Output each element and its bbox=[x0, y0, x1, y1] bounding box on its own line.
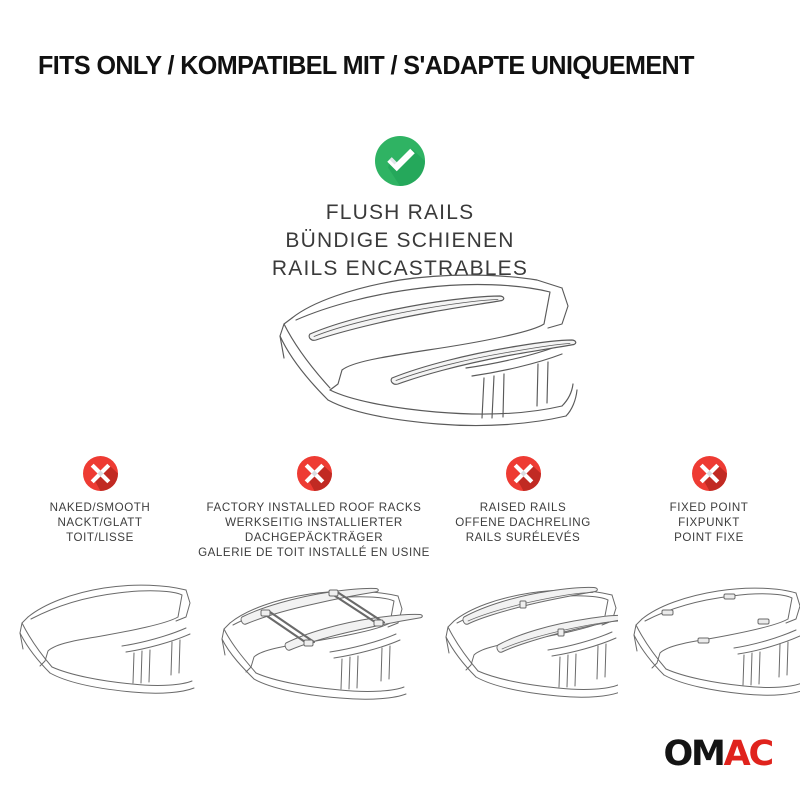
label-en: NAKED/SMOOTH bbox=[50, 500, 151, 515]
fitment-compatibility-page: FITS ONLY / KOMPATIBEL MIT / S'ADAPTE UN… bbox=[0, 0, 800, 800]
incompatible-labels-factory-roof-racks: FACTORY INSTALLED ROOF RACKS WERKSEITIG … bbox=[198, 500, 430, 560]
compatible-label-de: BÜNDIGE SCHIENEN bbox=[272, 227, 528, 255]
x-circle-icon bbox=[83, 456, 118, 491]
omac-logo: OMAC bbox=[663, 737, 772, 772]
incompatible-labels-raised-rails: RAISED RAILS OFFENE DACHRELING RAILS SUR… bbox=[455, 500, 591, 545]
incompatible-labels-naked-smooth: NAKED/SMOOTH NACKT/GLATT TOIT/LISSE bbox=[50, 500, 151, 545]
incompatible-item-raised-rails: RAISED RAILS OFFENE DACHRELING RAILS SUR… bbox=[428, 452, 618, 702]
incompatible-item-factory-roof-racks: FACTORY INSTALLED ROOF RACKS WERKSEITIG … bbox=[200, 452, 428, 702]
incompatible-labels-fixed-point: FIXED POINT FIXPUNKT POINT FIXE bbox=[670, 500, 749, 545]
page-title: FITS ONLY / KOMPATIBEL MIT / S'ADAPTE UN… bbox=[38, 52, 767, 81]
x-circle-icon bbox=[297, 456, 332, 491]
omac-logo-red: AC bbox=[724, 734, 772, 774]
car-roof-fixed-point-illustration bbox=[618, 571, 800, 706]
car-roof-factory-racks-illustration bbox=[200, 571, 428, 706]
incompatible-item-fixed-point: FIXED POINT FIXPUNKT POINT FIXE bbox=[618, 452, 800, 702]
label-de-1: WERKSEITIG INSTALLIERTER bbox=[198, 515, 430, 530]
label-de: FIXPUNKT bbox=[670, 515, 749, 530]
label-en: FACTORY INSTALLED ROOF RACKS bbox=[198, 500, 430, 515]
label-fr: RAILS SURÉLEVÉS bbox=[455, 530, 591, 545]
x-circle-icon bbox=[692, 456, 727, 491]
incompatible-section: NAKED/SMOOTH NACKT/GLATT TOIT/LISSE bbox=[0, 452, 800, 702]
car-roof-raised-rails-illustration bbox=[428, 571, 618, 706]
label-de-2: DACHGEPÄCKTRÄGER bbox=[198, 530, 430, 545]
omac-logo-dark: OM bbox=[663, 734, 723, 774]
label-fr: POINT FIXE bbox=[670, 530, 749, 545]
label-en: RAISED RAILS bbox=[455, 500, 591, 515]
label-fr: TOIT/LISSE bbox=[50, 530, 151, 545]
car-roof-naked-illustration bbox=[0, 571, 200, 706]
compatible-section: FLUSH RAILS BÜNDIGE SCHIENEN RAILS ENCAS… bbox=[0, 136, 800, 283]
label-en: FIXED POINT bbox=[670, 500, 749, 515]
x-circle-icon bbox=[506, 456, 541, 491]
label-fr: GALERIE DE TOIT INSTALLÉ EN USINE bbox=[198, 545, 430, 560]
check-circle-icon bbox=[375, 136, 425, 186]
car-roof-flush-rails-illustration bbox=[232, 266, 582, 441]
compatible-label-en: FLUSH RAILS bbox=[272, 199, 528, 227]
incompatible-item-naked-smooth: NAKED/SMOOTH NACKT/GLATT TOIT/LISSE bbox=[0, 452, 200, 702]
label-de: OFFENE DACHRELING bbox=[455, 515, 591, 530]
label-de: NACKT/GLATT bbox=[50, 515, 151, 530]
